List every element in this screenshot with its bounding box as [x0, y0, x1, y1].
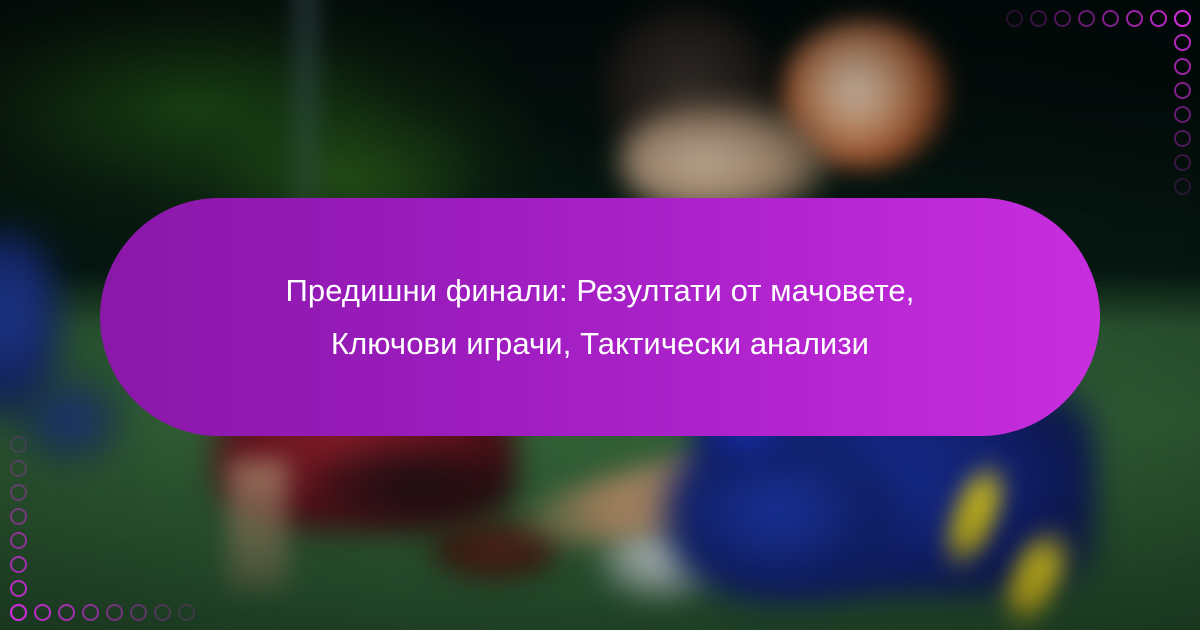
dot-column-vertical — [1170, 6, 1194, 198]
circle-outline-icon — [1174, 154, 1191, 171]
dot-row-horizontal — [1002, 6, 1194, 30]
circle-outline-icon — [10, 532, 27, 549]
share-card: Предишни финали: Резултати от мачовете, … — [0, 0, 1200, 630]
circle-outline-icon — [1126, 10, 1143, 27]
circle-outline-icon — [1078, 10, 1095, 27]
circle-outline-icon — [10, 580, 27, 597]
circle-outline-icon — [1174, 130, 1191, 147]
circle-outline-icon — [10, 484, 27, 501]
circle-outline-icon — [1174, 178, 1191, 195]
page-title: Предишни финали: Резултати от мачовете, … — [170, 264, 1030, 371]
circle-outline-icon — [82, 604, 99, 621]
circle-outline-icon — [1174, 58, 1191, 75]
circle-outline-icon — [1150, 10, 1167, 27]
circle-outline-icon — [10, 436, 27, 453]
dot-column-vertical — [6, 432, 30, 624]
circle-outline-icon — [1174, 10, 1191, 27]
circle-outline-icon — [130, 604, 147, 621]
circle-outline-icon — [58, 604, 75, 621]
circle-outline-icon — [10, 604, 27, 621]
circle-outline-icon — [154, 604, 171, 621]
circle-outline-icon — [1174, 106, 1191, 123]
headline-banner: Предишни финали: Резултати от мачовете, … — [100, 198, 1100, 436]
circle-outline-icon — [34, 604, 51, 621]
circle-outline-icon — [106, 604, 123, 621]
circle-outline-icon — [10, 556, 27, 573]
dot-row-horizontal — [6, 600, 198, 624]
circle-outline-icon — [10, 460, 27, 477]
circle-outline-icon — [1006, 10, 1023, 27]
circle-outline-icon — [1174, 34, 1191, 51]
circle-outline-icon — [178, 604, 195, 621]
circle-outline-icon — [1174, 82, 1191, 99]
circle-outline-icon — [10, 508, 27, 525]
circle-outline-icon — [1030, 10, 1047, 27]
circle-outline-icon — [1102, 10, 1119, 27]
circle-outline-icon — [1054, 10, 1071, 27]
